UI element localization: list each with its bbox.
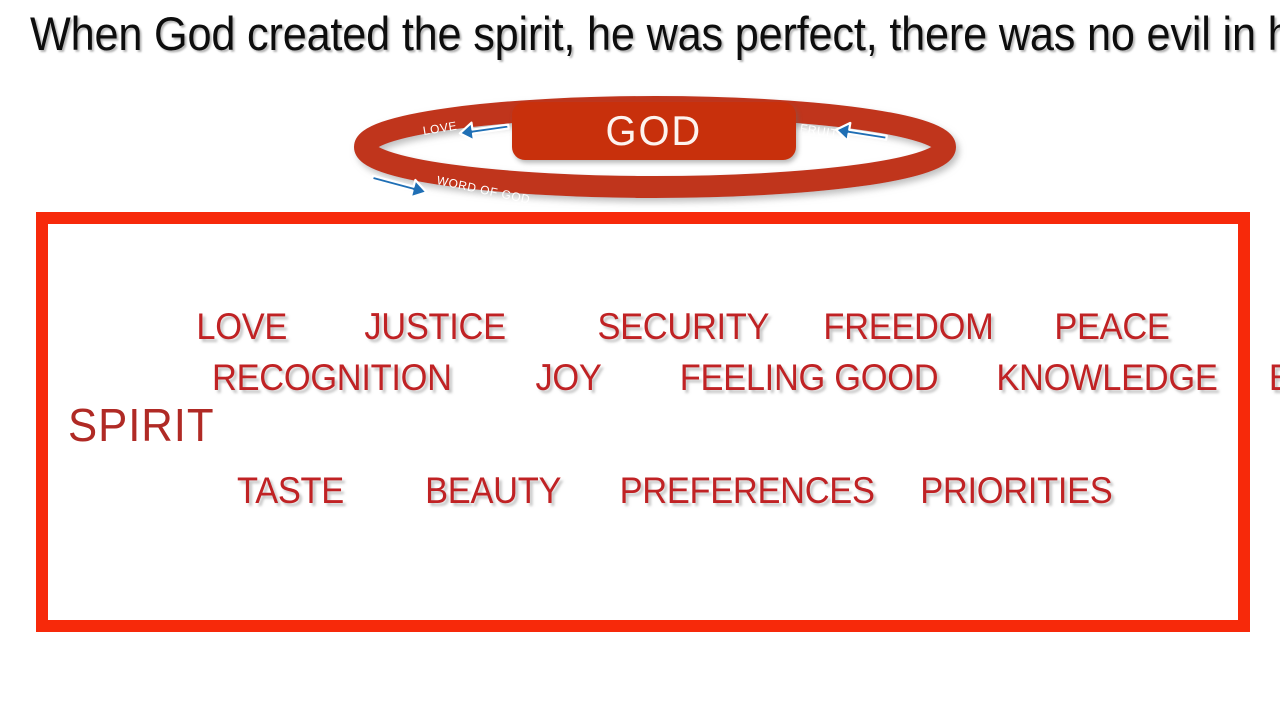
attribute-row-2: RECOGNITION JOY FEELING GOOD KNOWLEDGE E… [203,357,1280,399]
god-box-label: GOD [606,107,703,155]
god-cycle-diagram: LOVE FRUIT WORD OF GOD GOD [350,94,960,210]
attribute-word: JUSTICE [364,306,505,348]
spirit-label: SPIRIT [68,398,215,452]
attribute-word: PRIORITIES [920,470,1112,512]
attribute-word: FEELING GOOD [680,357,939,399]
attribute-word: SECURITY [597,306,769,348]
attribute-word: BEAUTY [425,470,561,512]
god-box: GOD [512,102,796,160]
attribute-word: JOY [535,357,601,399]
attribute-word: RECOGNITION [212,357,452,399]
attribute-word: FREEDOM [824,306,994,348]
attribute-row-1: LOVE JUSTICE SECURITY FREEDOM PEACE [193,306,1174,348]
attribute-word: PREFERENCES [620,470,875,512]
attribute-word: LOVE [196,306,287,348]
spirit-panel [36,212,1250,632]
attribute-row-3: TASTE BEAUTY PREFERENCES PRIORITIES [233,470,1119,512]
attribute-word: TASTE [237,470,344,512]
page-title: When God created the spirit, he was perf… [30,6,1171,61]
attribute-word: KNOWLEDGE [996,357,1217,399]
attribute-word: PEACE [1055,306,1170,348]
attribute-word: ETC. [1269,357,1280,399]
